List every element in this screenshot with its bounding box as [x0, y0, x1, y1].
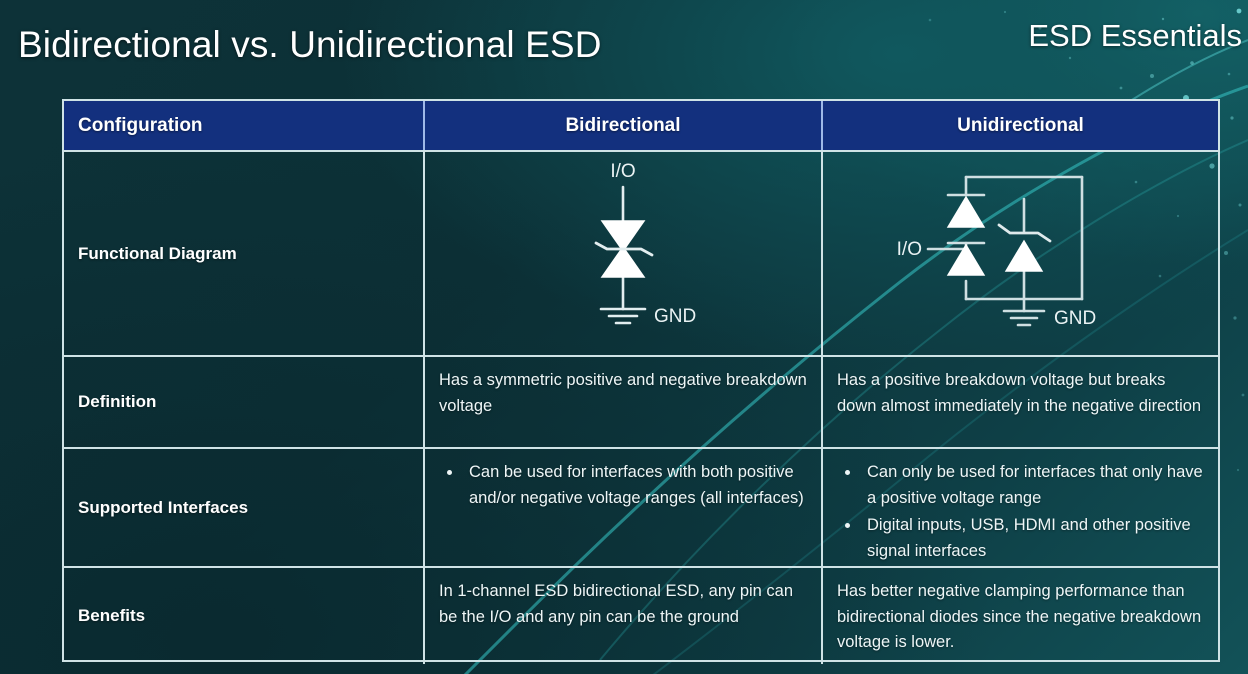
- definition-unidirectional-text: Has a positive breakdown voltage but bre…: [837, 368, 1204, 419]
- supported-bidirectional-list: Can be used for interfaces with both pos…: [439, 460, 807, 511]
- definition-bidirectional-text: Has a symmetric positive and negative br…: [439, 368, 807, 419]
- benefits-bidirectional-text: In 1-channel ESD bidirectional ESD, any …: [439, 579, 807, 630]
- definition-unidirectional-cell: Has a positive breakdown voltage but bre…: [821, 357, 1218, 447]
- benefits-bidirectional-cell: In 1-channel ESD bidirectional ESD, any …: [423, 568, 821, 664]
- list-item: Digital inputs, USB, HDMI and other posi…: [837, 513, 1204, 564]
- header-cell-unidirectional: Unidirectional: [821, 101, 1218, 150]
- supported-unidirectional-list: Can only be used for interfaces that onl…: [837, 460, 1204, 564]
- bidirectional-diagram-cell: I/O GND: [423, 152, 821, 355]
- unidirectional-gnd-label: GND: [1054, 308, 1096, 329]
- supported-bidirectional-cell: Can be used for interfaces with both pos…: [423, 449, 821, 566]
- header-cell-bidirectional: Bidirectional: [423, 101, 821, 150]
- definition-bidirectional-cell: Has a symmetric positive and negative br…: [423, 357, 821, 447]
- page-title: Bidirectional vs. Unidirectional ESD: [18, 24, 602, 66]
- unidirectional-io-label: I/O: [896, 239, 921, 260]
- unidirectional-tvs-diode-bridge-icon: I/O GND: [886, 159, 1156, 349]
- comparison-table: Configuration Bidirectional Unidirection…: [62, 99, 1220, 662]
- row-label-definition: Definition: [64, 357, 423, 447]
- table-row-supported-interfaces: Supported Interfaces Can be used for int…: [64, 447, 1218, 566]
- row-label-benefits: Benefits: [64, 568, 423, 664]
- row-label-supported-interfaces: Supported Interfaces: [64, 449, 423, 566]
- unidirectional-diagram-cell: I/O GND: [821, 152, 1218, 355]
- table-row-functional-diagram: Functional Diagram I/O GND: [64, 150, 1218, 355]
- table-row-definition: Definition Has a symmetric positive and …: [64, 355, 1218, 447]
- table-header-row: Configuration Bidirectional Unidirection…: [64, 101, 1218, 150]
- header-cell-configuration: Configuration: [64, 101, 423, 150]
- benefits-unidirectional-text: Has better negative clamping performance…: [837, 579, 1204, 656]
- bidirectional-io-label: I/O: [610, 161, 635, 182]
- benefits-unidirectional-cell: Has better negative clamping performance…: [821, 568, 1218, 664]
- bidirectional-gnd-label: GND: [654, 306, 696, 327]
- list-item: Can only be used for interfaces that onl…: [837, 460, 1204, 511]
- table-row-benefits: Benefits In 1-channel ESD bidirectional …: [64, 566, 1218, 664]
- supported-unidirectional-cell: Can only be used for interfaces that onl…: [821, 449, 1218, 566]
- deck-label: ESD Essentials: [1028, 18, 1242, 54]
- list-item: Can be used for interfaces with both pos…: [439, 460, 807, 511]
- row-label-functional-diagram: Functional Diagram: [64, 152, 423, 355]
- bidirectional-tvs-diode-icon: I/O GND: [508, 159, 738, 349]
